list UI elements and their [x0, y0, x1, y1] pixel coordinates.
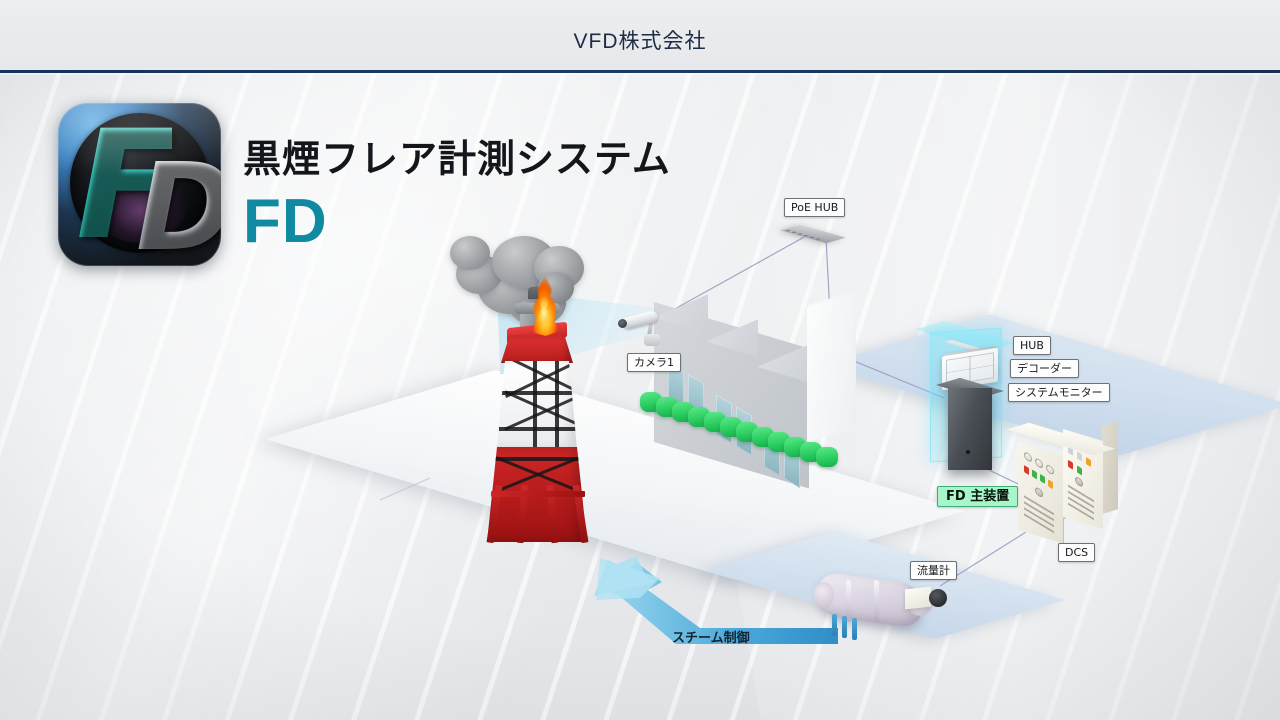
flow-meter-device: [905, 586, 951, 612]
boiler-band-1: [846, 580, 851, 623]
dcs-side-panel: [1102, 421, 1118, 514]
fd-main-unit-cabinet: [948, 388, 992, 470]
dcs-panel-left: [1018, 442, 1064, 544]
slide-canvas: VFD株式会社 F D 黒煙フレア計測システム FD: [0, 0, 1280, 720]
label-steam-control: スチーム制御: [656, 621, 766, 652]
label-flow-meter: 流量計: [910, 561, 957, 580]
label-dcs: DCS: [1058, 543, 1095, 562]
label-fd-main-unit: FD 主装置: [937, 486, 1018, 507]
label-system-monitor: システムモニター: [1008, 383, 1110, 402]
label-camera-1: カメラ1: [627, 353, 681, 372]
security-camera-1: [622, 310, 668, 336]
boiler-pipe-2: [842, 616, 847, 638]
bush-row: [640, 392, 840, 482]
tower-top-section: [501, 335, 573, 363]
camera-mount: [644, 334, 660, 346]
boiler-pipe-1: [832, 614, 837, 636]
dcs-cabinet: [1018, 432, 1116, 542]
tower-legs: [489, 485, 585, 545]
label-poe-hub: PoE HUB: [784, 198, 845, 217]
camera-lens: [618, 319, 627, 328]
boiler-pipe-3: [852, 618, 857, 640]
label-decoder: デコーダー: [1010, 359, 1079, 378]
boiler-end-cap-left: [814, 582, 834, 608]
camera-body: [621, 310, 659, 330]
tower-middle-section: [497, 361, 577, 449]
label-hub: HUB: [1013, 336, 1051, 355]
boiler-band-2: [874, 580, 879, 623]
fd-cabinet-indicator: [966, 450, 970, 454]
flare-stack: [487, 335, 587, 550]
